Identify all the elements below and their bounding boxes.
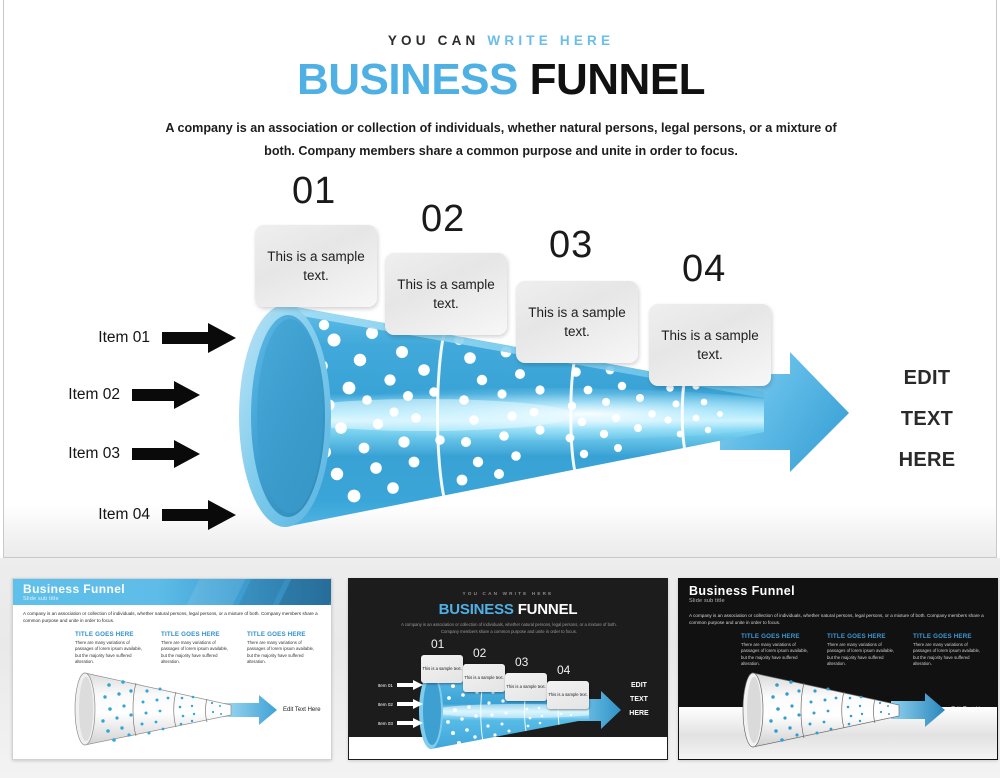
funnel-input-item-01[interactable]: Item 01: [64, 323, 236, 353]
thumb-funnel-graphic: [349, 579, 668, 760]
edit-text-block[interactable]: EDIT TEXT HERE: [872, 358, 982, 481]
thumb-item-label: Item 02: [367, 702, 393, 707]
page-title: BUSINESS FUNNEL: [4, 55, 997, 105]
item-label: Item 02: [34, 386, 120, 404]
thumb-step-card-03[interactable]: This is a sample text.: [505, 673, 547, 701]
step-card-04[interactable]: This is a sample text.: [649, 304, 771, 386]
step-number-02: 02: [421, 198, 465, 241]
thumbnail-dark-main[interactable]: YOU CAN WRITE HERE BUSINESS FUNNEL A com…: [348, 578, 668, 760]
main-slide: YOU CAN WRITE HERE BUSINESS FUNNEL A com…: [3, 0, 997, 558]
slide-eyebrow: YOU CAN WRITE HERE: [4, 33, 997, 48]
step-number-01: 01: [292, 170, 336, 213]
title-word-business: BUSINESS: [297, 55, 518, 104]
funnel-input-item-02[interactable]: Item 02: [34, 381, 200, 409]
edit-text-line-1: EDIT: [872, 358, 982, 399]
thumb-funnel-graphic: [679, 579, 998, 760]
title-word-funnel: FUNNEL: [530, 55, 705, 104]
thumb-step-number-01: 01: [431, 637, 444, 651]
edit-text-line-2: TEXT: [872, 399, 982, 440]
right-arrow-icon: [132, 381, 200, 409]
thumb-item-label: Item 03: [367, 721, 393, 726]
thumb-edit-line-1: EDIT: [621, 679, 657, 693]
thumb-input-item-04[interactable]: Item 04: [367, 738, 423, 748]
step-card-text: This is a sample text.: [391, 275, 501, 313]
right-arrow-icon: [397, 738, 423, 748]
edit-text-line-3: HERE: [872, 440, 982, 481]
thumb-step-number-03: 03: [515, 655, 528, 669]
thumb-item-label: Item 01: [367, 683, 393, 688]
thumb-input-item-01[interactable]: Item 01: [367, 680, 423, 690]
right-arrow-icon: [132, 440, 200, 468]
funnel-opening-face: [251, 315, 325, 517]
thumb-step-card-text: This is a sample text.: [506, 684, 545, 690]
thumb-step-card-text: This is a sample text.: [464, 675, 503, 681]
thumb-step-card-01[interactable]: This is a sample text.: [421, 655, 463, 683]
step-card-text: This is a sample text.: [522, 303, 632, 341]
thumb-edit-line-2: TEXT: [621, 693, 657, 707]
step-number-03: 03: [549, 224, 593, 267]
right-arrow-icon: [162, 323, 236, 353]
funnel-opening-inner-shade: [257, 319, 323, 513]
thumb-input-item-02[interactable]: Item 02: [367, 699, 423, 709]
funnel-outer-rim: [239, 305, 331, 527]
thumb-step-number-04: 04: [557, 663, 570, 677]
funnel-input-item-04[interactable]: Item 04: [64, 500, 236, 530]
thumb-edit-label: Edit Text Here: [283, 707, 321, 713]
presentation-preview-page: YOU CAN WRITE HERE BUSINESS FUNNEL A com…: [0, 0, 1000, 778]
eyebrow-light-text: WRITE HERE: [487, 33, 614, 48]
slide-description: A company is an association or collectio…: [151, 117, 851, 163]
item-label: Item 03: [34, 445, 120, 463]
thumb-edit-line-3: HERE: [621, 707, 657, 721]
thumb-step-card-text: This is a sample text.: [548, 692, 587, 698]
funnel-input-item-03[interactable]: Item 03: [34, 440, 200, 468]
step-card-02[interactable]: This is a sample text.: [385, 253, 507, 335]
step-card-text: This is a sample text.: [261, 247, 371, 285]
thumb-step-card-02[interactable]: This is a sample text.: [463, 664, 505, 692]
right-arrow-icon: [397, 718, 423, 728]
item-label: Item 04: [64, 506, 150, 524]
thumbnail-dark[interactable]: Business Funnel Slide sub title A compan…: [678, 578, 998, 760]
step-card-03[interactable]: This is a sample text.: [516, 281, 638, 363]
step-number-04: 04: [682, 248, 726, 291]
thumb-edit-text-block[interactable]: EDIT TEXT HERE: [621, 679, 657, 721]
thumb-step-card-text: This is a sample text.: [422, 666, 461, 672]
thumb-step-card-04[interactable]: This is a sample text.: [547, 681, 589, 709]
item-label: Item 01: [64, 329, 150, 347]
right-arrow-icon: [397, 680, 423, 690]
thumbnail-strip: Business Funnel Slide sub title A compan…: [0, 558, 1000, 778]
step-card-text: This is a sample text.: [655, 326, 765, 364]
thumb-funnel-graphic: [13, 579, 332, 760]
eyebrow-dark-text: YOU CAN: [388, 33, 480, 48]
thumb-step-number-02: 02: [473, 646, 486, 660]
thumb-input-item-03[interactable]: Item 03: [367, 718, 423, 728]
right-arrow-icon: [397, 699, 423, 709]
thumb-edit-label: Edit Text Here: [951, 707, 989, 713]
thumb-item-label: Item 04: [367, 741, 393, 746]
thumbnail-light[interactable]: Business Funnel Slide sub title A compan…: [12, 578, 332, 760]
right-arrow-icon: [162, 500, 236, 530]
step-card-01[interactable]: This is a sample text.: [255, 225, 377, 307]
